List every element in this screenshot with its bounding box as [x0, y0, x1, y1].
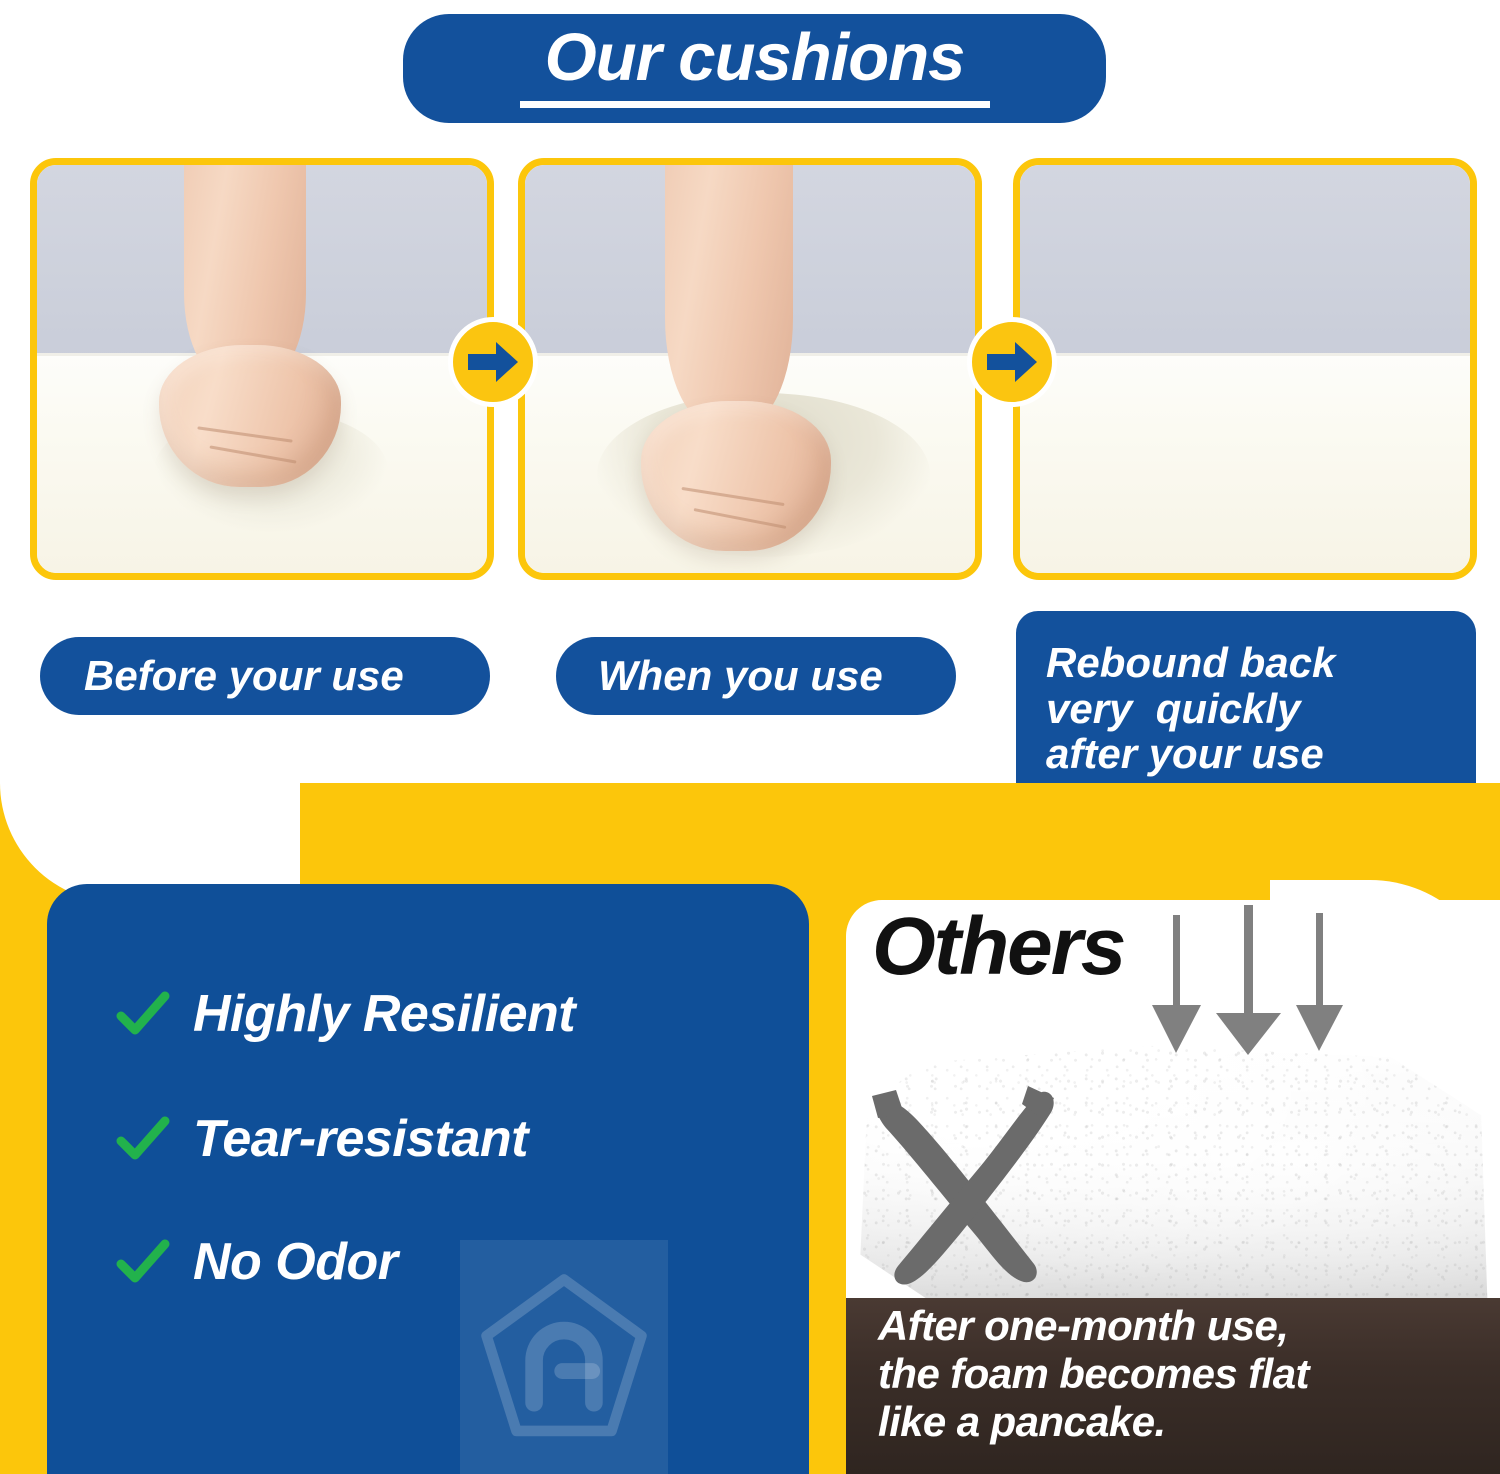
right-arrow-icon: [967, 317, 1057, 407]
others-caption: After one-month use, the foam becomes fl…: [878, 1302, 1309, 1446]
pentagon-house-logo-icon: [460, 1240, 668, 1474]
scene-foam-edge: [1020, 353, 1470, 356]
feature-label: No Odor: [193, 1232, 397, 1292]
check-icon: [115, 1111, 171, 1167]
page-title: Our cushions: [545, 24, 965, 91]
caption-line-1: Rebound back: [1046, 640, 1335, 685]
scene-fist: [159, 345, 341, 487]
demo-photo-after: [1013, 158, 1477, 580]
caption-line-2: very quickly: [1046, 686, 1300, 731]
others-title: Others: [872, 906, 1124, 988]
features-panel: Highly Resilient Tear-resistant No Odor: [47, 884, 809, 1474]
check-icon: [115, 1234, 171, 1290]
demo-photo-during: [518, 158, 982, 580]
caption-line-3: after your use: [1046, 731, 1324, 776]
right-arrow-icon: [448, 317, 538, 407]
photo-scene-during: [525, 165, 975, 573]
scene-forearm: [665, 158, 793, 427]
others-caption-line-2: the foam becomes flat: [878, 1350, 1309, 1398]
caption-when-you-use: When you use: [556, 637, 956, 715]
yellow-left-strip: [0, 960, 47, 1474]
others-caption-line-1: After one-month use,: [878, 1302, 1309, 1350]
scene-background-wall: [1020, 165, 1470, 361]
feature-label: Highly Resilient: [193, 984, 575, 1044]
feature-label: Tear-resistant: [193, 1109, 528, 1169]
photo-scene-after: [1020, 165, 1470, 573]
title-underline: [520, 101, 990, 108]
scene-foam-slab: [1020, 353, 1470, 573]
caption-rebound-back: Rebound back very quickly after your use: [1016, 611, 1476, 806]
page-title-banner: Our cushions: [403, 14, 1106, 123]
down-arrow-icon: [1140, 905, 1360, 1060]
feature-item: Highly Resilient: [115, 984, 575, 1044]
others-caption-line-3: like a pancake.: [878, 1398, 1309, 1446]
feature-item: Tear-resistant: [115, 1109, 528, 1169]
feature-item: No Odor: [115, 1232, 397, 1292]
infographic-page: Our cushions: [0, 0, 1500, 1474]
demo-photo-before: [30, 158, 494, 580]
check-icon: [115, 986, 171, 1042]
photo-scene-before: [37, 165, 487, 573]
scene-fist: [641, 401, 831, 551]
brush-x-icon: [858, 1058, 1108, 1313]
demo-photo-row: [0, 158, 1500, 583]
caption-before-your-use: Before your use: [40, 637, 490, 715]
